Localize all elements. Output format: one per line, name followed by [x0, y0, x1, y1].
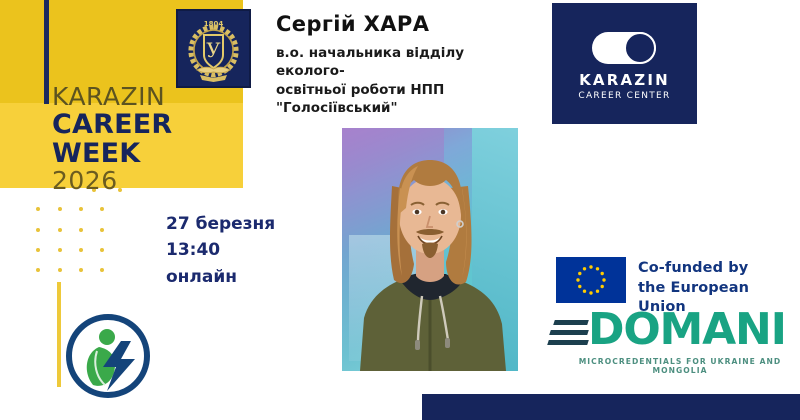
eu-flag-icon — [556, 257, 626, 303]
domani-logo: DOMANI MICROCREDENTIALS FOR UKRAINE AND … — [540, 308, 796, 380]
wordmark-line-career-week: CAREER WEEK — [52, 110, 252, 168]
career-week-wordmark: KARAZIN CAREER WEEK 2026 — [52, 84, 252, 194]
photo-subject — [342, 128, 518, 371]
speaker-role: в.о. начальника відділу еколого- освітнь… — [276, 44, 526, 117]
domani-tagline: MICROCREDENTIALS FOR UKRAINE AND MONGOLI… — [564, 357, 796, 375]
poster-canvas: KARAZIN CAREER WEEK 2026 1804 У Сергій Х… — [0, 0, 800, 420]
speaker-block: Сергій ХАРА в.о. начальника відділу екол… — [276, 12, 526, 117]
eco-park-logo-icon — [63, 311, 153, 401]
speaker-role-line-1: в.о. начальника відділу еколого- — [276, 44, 526, 80]
dot-grid-decoration — [0, 183, 140, 278]
logo-circle-shape — [624, 32, 656, 64]
speaker-photo — [342, 128, 518, 371]
university-crest-icon: 1804 У — [176, 9, 251, 88]
event-date: 27 березня — [166, 211, 326, 237]
event-meta-block: 27 березня 13:40 онлайн — [166, 211, 326, 290]
event-format: онлайн — [166, 264, 326, 290]
domani-wordmark: DOMANI — [588, 308, 786, 352]
navy-accent-line — [44, 0, 49, 104]
wordmark-line-year: 2026 — [52, 168, 252, 194]
yellow-vertical-line — [57, 282, 61, 387]
event-time: 13:40 — [166, 237, 326, 263]
speaker-role-line-3: "Голосіївський" — [276, 99, 526, 117]
domani-bars-icon — [548, 316, 592, 352]
career-center-title: KARAZIN — [552, 71, 697, 89]
karazin-career-center-logo: KARAZIN CAREER CENTER — [552, 3, 697, 124]
crest-letter-text: У — [206, 38, 221, 62]
speaker-name: Сергій ХАРА — [276, 12, 526, 37]
eu-funding-line-1: Co-funded by — [638, 259, 796, 279]
eu-funding-block: Co-funded by the European Union — [556, 255, 796, 305]
career-center-subtitle: CAREER CENTER — [552, 91, 697, 101]
bottom-navy-bar — [422, 394, 800, 420]
speaker-role-line-2: освітньої роботи НПП — [276, 81, 526, 99]
